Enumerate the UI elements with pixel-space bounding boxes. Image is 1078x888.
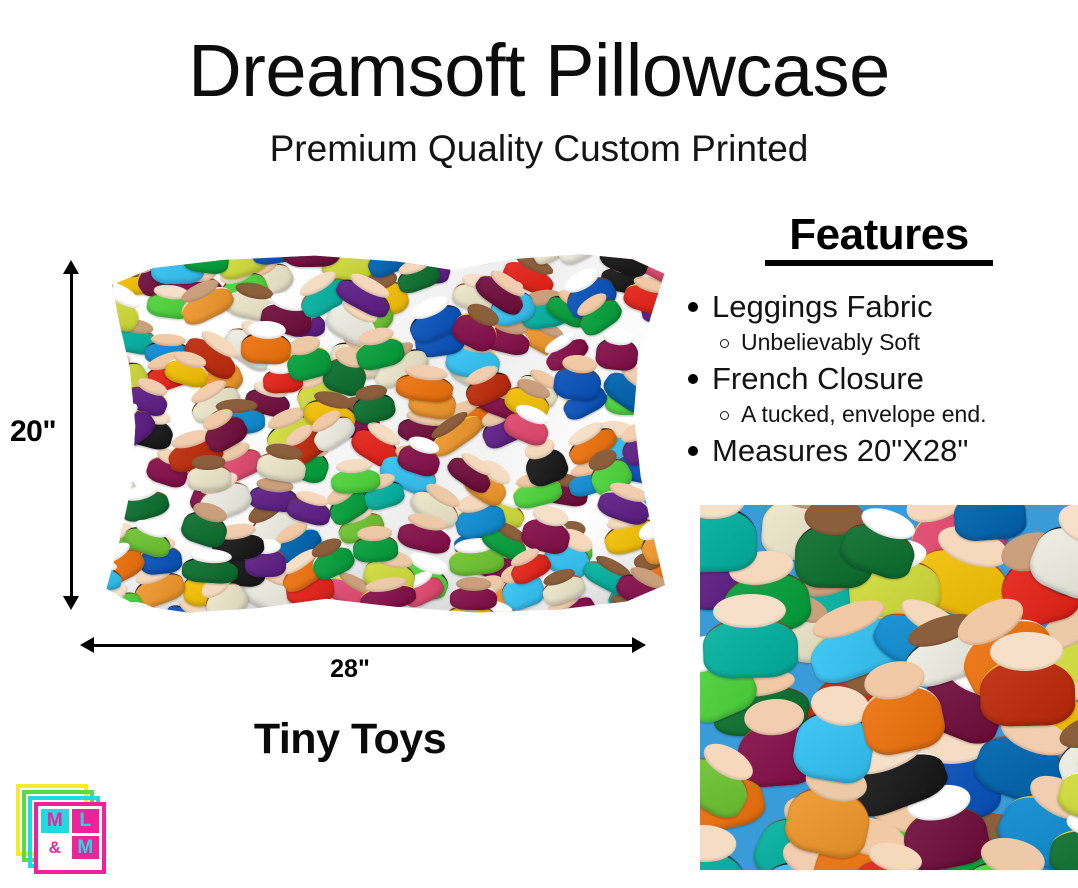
toy-figure bbox=[95, 492, 107, 521]
toy-figure bbox=[700, 849, 746, 870]
pillow-product-image bbox=[95, 252, 673, 614]
header: Dreamsoft Pillowcase Premium Quality Cus… bbox=[0, 0, 1078, 167]
toy-figure bbox=[95, 522, 116, 560]
logo-letter-m1: M bbox=[41, 809, 69, 833]
toy-figure bbox=[353, 534, 399, 564]
feature-item: Leggings Fabric bbox=[680, 288, 1078, 326]
arrow-head-right-icon bbox=[632, 637, 646, 653]
height-label: 20" bbox=[10, 415, 56, 449]
toy-figure bbox=[657, 440, 673, 494]
toy-figure bbox=[647, 388, 673, 422]
feature-item: Unbelievably Soft bbox=[680, 328, 1078, 356]
toy-figure bbox=[95, 603, 119, 614]
logo-letter-l: L bbox=[72, 809, 100, 833]
toy-figure bbox=[666, 598, 673, 614]
toy-figure bbox=[979, 657, 1076, 728]
arrow-head-down-icon bbox=[63, 596, 79, 610]
toy-figure bbox=[666, 333, 673, 359]
brand-logo: M L & M bbox=[14, 784, 114, 880]
toy-figure bbox=[395, 517, 452, 556]
feature-item: A tucked, envelope end. bbox=[680, 400, 1078, 428]
toy-pattern-fill bbox=[95, 252, 673, 614]
pillow-shape bbox=[95, 252, 673, 614]
width-dimension-arrow bbox=[80, 637, 646, 653]
bullet-disc-icon bbox=[688, 446, 698, 456]
feature-item: Measures 20"X28" bbox=[680, 432, 1078, 470]
toy-figure bbox=[95, 330, 100, 379]
feature-item-label: Measures 20"X28" bbox=[712, 432, 968, 470]
toy-figure bbox=[107, 606, 169, 614]
pillow-showcase: 20" 28" Tiny Toys bbox=[0, 230, 690, 660]
features-heading: Features bbox=[680, 212, 1078, 258]
toy-figure bbox=[351, 391, 398, 426]
toy-figure bbox=[181, 555, 238, 585]
logo-letter-m2: M bbox=[72, 836, 100, 860]
toy-figure bbox=[621, 279, 671, 317]
toy-figure bbox=[240, 331, 291, 365]
toy-figure bbox=[450, 584, 497, 609]
toy-figure bbox=[432, 252, 479, 263]
toy-figure bbox=[395, 370, 455, 404]
logo-letter-amp: & bbox=[41, 836, 69, 860]
features-panel: Features Leggings FabricUnbelievably Sof… bbox=[680, 212, 1078, 470]
features-heading-underline bbox=[765, 260, 993, 266]
toy-figure bbox=[95, 412, 111, 458]
toy-figure bbox=[653, 587, 673, 614]
toy-figure bbox=[95, 352, 132, 403]
toy-figure bbox=[95, 301, 113, 337]
toy-figure bbox=[95, 261, 118, 307]
toy-figure bbox=[620, 610, 670, 614]
feature-item-label: French Closure bbox=[712, 360, 924, 398]
toy-figure bbox=[95, 456, 98, 495]
toy-figure bbox=[359, 580, 418, 613]
feature-item-label: Unbelievably Soft bbox=[741, 328, 920, 356]
feature-item-label: A tucked, envelope end. bbox=[741, 400, 987, 428]
toy-figure bbox=[644, 331, 673, 382]
toy-figure bbox=[95, 397, 120, 443]
toy-figure bbox=[95, 252, 135, 274]
toy-figure bbox=[702, 615, 799, 679]
page-subtitle: Premium Quality Custom Printed bbox=[0, 108, 1078, 167]
toy-figure bbox=[666, 397, 673, 434]
feature-item: French Closure bbox=[680, 360, 1078, 398]
features-list: Leggings FabricUnbelievably SoftFrench C… bbox=[680, 288, 1078, 470]
toy-figure bbox=[700, 506, 757, 573]
toy-figure bbox=[353, 608, 396, 614]
bullet-circle-icon bbox=[720, 339, 729, 348]
logo-letter-grid: M L & M bbox=[41, 809, 99, 859]
toy-figure bbox=[187, 464, 232, 492]
toy-figure bbox=[643, 363, 673, 392]
toy-figure bbox=[667, 421, 673, 464]
toy-figure bbox=[651, 488, 673, 531]
toy-figure bbox=[552, 252, 601, 268]
arrow-stem bbox=[90, 644, 636, 647]
toy-pattern-closeup bbox=[700, 505, 1078, 870]
toy-figure bbox=[553, 363, 603, 402]
height-dimension-arrow bbox=[63, 260, 79, 610]
bullet-disc-icon bbox=[688, 374, 698, 384]
pattern-name: Tiny Toys bbox=[0, 715, 700, 764]
bullet-circle-icon bbox=[720, 411, 729, 420]
width-label: 28" bbox=[0, 655, 700, 684]
page-title: Dreamsoft Pillowcase bbox=[0, 0, 1078, 108]
arrow-stem bbox=[70, 269, 73, 601]
toy-figure bbox=[95, 446, 134, 487]
toy-figure bbox=[395, 259, 443, 296]
toy-figure bbox=[95, 391, 136, 426]
toy-figure bbox=[653, 356, 673, 396]
toy-figure bbox=[595, 336, 640, 372]
fabric-swatch-image bbox=[700, 505, 1078, 870]
feature-item-label: Leggings Fabric bbox=[712, 288, 933, 326]
bullet-disc-icon bbox=[688, 302, 698, 312]
